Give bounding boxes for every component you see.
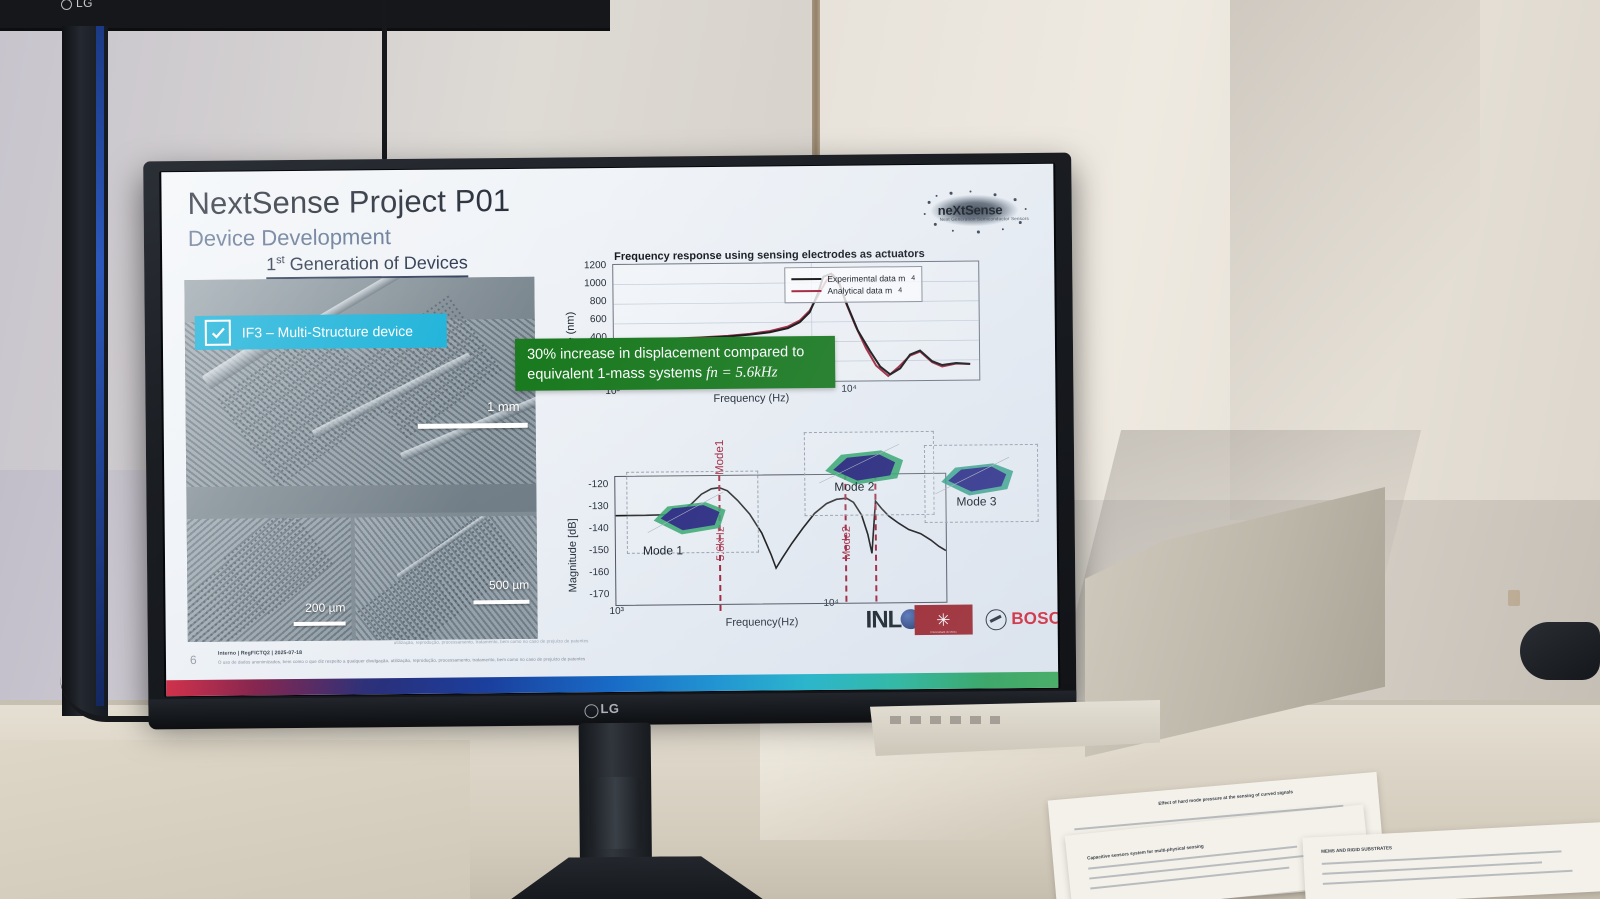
chart2-ytick: -170 xyxy=(571,589,609,600)
presentation-slide[interactable]: NextSense Project P01 Device Development… xyxy=(161,164,1058,697)
desk-left-surface xyxy=(0,740,470,899)
mode-marker-label-mode2: Mode2 xyxy=(841,526,853,560)
section-ordinal-suffix: st xyxy=(276,254,285,266)
photo-scene: LG NextSense Project P01 Device Developm… xyxy=(0,0,1600,899)
laptop-ports xyxy=(890,716,1000,724)
partner-logos: INL ✳ Universidade do Minho BOSCH xyxy=(865,604,1058,636)
lg-monitor: NextSense Project P01 Device Development… xyxy=(143,153,1077,754)
chart2-ytick: -160 xyxy=(571,567,609,578)
mode3-thumbnail-box xyxy=(924,444,1039,523)
chart2-ytick: -120 xyxy=(570,479,608,490)
checkbox-icon[interactable] xyxy=(205,320,231,346)
chart1-xlabel: Frequency (Hz) xyxy=(713,392,789,405)
mode2-label: Mode 2 xyxy=(834,479,874,493)
slide-disclaimer: O uso de dados anonimizados, bem como o … xyxy=(218,656,585,665)
lg-brand-label: LG xyxy=(600,701,619,716)
callout-line-2-text: equivalent 1-mass systems xyxy=(527,365,706,383)
wall-marking xyxy=(1508,590,1520,606)
monitor-stand-neck-detail xyxy=(589,777,642,849)
callout-line-2: equivalent 1-mass systems fn = 5.6kHz xyxy=(527,361,835,385)
section-rest: Generation of Devices xyxy=(285,252,468,274)
legend-entry-experimental: Experimental data m4 xyxy=(791,273,915,284)
mode1-annotation: Mode1 xyxy=(714,440,726,475)
hanging-cable xyxy=(382,0,387,160)
mode2-thumbnail-box xyxy=(804,431,935,516)
chart1-legend: Experimental data m4 Analytical data m4 xyxy=(784,266,922,303)
nextsense-logo: neXtSense Next Generation Semiconductor … xyxy=(921,188,1031,235)
monitor-arm-accent xyxy=(96,26,104,706)
legend-label-experimental: Experimental data m xyxy=(827,273,905,284)
chart2-ytick: -140 xyxy=(571,523,609,534)
chart1-ytick: 600 xyxy=(571,314,607,325)
slide-footer-note: utilização, reprodução, processamento, t… xyxy=(394,638,589,645)
legend-label-analytical: Analytical data m xyxy=(827,285,892,296)
chart1-ytick: 800 xyxy=(570,296,606,307)
callout-box: 30% increase in displacement compared to… xyxy=(515,336,835,391)
computer-mouse[interactable] xyxy=(1520,622,1600,680)
sem-scale-label-top: 1 mm xyxy=(487,399,520,414)
slide-subtitle: Device Development xyxy=(188,224,391,252)
lg-logo-mark-icon xyxy=(584,704,598,718)
legend-sub-experimental: 4 xyxy=(911,274,915,282)
slide-classification: Interno | RegFICTQ2 | 2025-07-18 xyxy=(218,650,302,657)
sem-scale-label-bottom-right: 500 µm xyxy=(489,578,529,592)
legend-entry-analytical: Analytical data m4 xyxy=(791,285,915,296)
sem-image-overview: 1 mm xyxy=(184,277,536,515)
bosch-mark-icon xyxy=(985,609,1006,630)
chart1-ytick: 1200 xyxy=(570,260,606,271)
sem-image-detail-left: 200 µm xyxy=(187,517,352,642)
chart1-ytick: 1000 xyxy=(570,278,606,289)
chart2-xtick: 10³ xyxy=(609,606,624,617)
mode3-shape-icon xyxy=(925,445,1038,522)
nextsense-logo-tagline: Next Generation Semiconductor Sensors xyxy=(940,216,1029,222)
chart2-xlabel: Frequency(Hz) xyxy=(726,616,799,629)
chart1-xtick: 10⁴ xyxy=(841,384,857,395)
inl-logo-text: INL xyxy=(865,606,901,633)
sem-image-detail-right: 500 µm xyxy=(355,516,538,641)
uminho-star-icon: ✳ xyxy=(936,611,950,628)
mode1-thumbnail-box xyxy=(626,471,759,554)
bosch-logo-text: BOSCH xyxy=(1011,609,1058,630)
sem-image-group: 1 mm 200 µm 500 µm xyxy=(184,277,537,642)
slide-section-heading: 1st Generation of Devices xyxy=(266,252,468,279)
legend-sub-analytical: 4 xyxy=(898,286,902,294)
chart2-ytick: -150 xyxy=(571,545,609,556)
slide-number: 6 xyxy=(190,653,197,667)
chart2-ytick: -130 xyxy=(570,501,608,512)
uminho-logo-caption: Universidade do Minho xyxy=(914,631,972,635)
mode1-shape-icon xyxy=(627,472,758,553)
mode1-label: Mode 1 xyxy=(643,543,683,557)
slide-title: NextSense Project P01 xyxy=(187,183,510,222)
device-badge[interactable]: IF3 – Multi-Structure device xyxy=(195,314,447,350)
mode2-shape-icon xyxy=(805,432,934,515)
mode3-label: Mode 3 xyxy=(956,494,996,508)
section-ordinal: 1 xyxy=(266,254,276,274)
legend-swatch-analytical xyxy=(791,290,821,293)
callout-formula: fn = 5.6kHz xyxy=(706,364,778,381)
bosch-logo: BOSCH xyxy=(985,608,1058,630)
sem-scale-label-bottom-left: 200 µm xyxy=(305,601,345,615)
inl-logo: INL xyxy=(865,606,901,634)
legend-swatch-experimental xyxy=(791,278,821,281)
sem-scale-bar-bottom-right xyxy=(473,600,529,605)
second-monitor-brand-label: LG xyxy=(76,0,93,10)
sem-scale-bar-bottom-left xyxy=(294,622,346,626)
device-badge-label: IF3 – Multi-Structure device xyxy=(242,323,413,341)
universidade-do-minho-logo: ✳ Universidade do Minho xyxy=(914,605,972,636)
sem-scale-bar-top xyxy=(418,423,528,429)
